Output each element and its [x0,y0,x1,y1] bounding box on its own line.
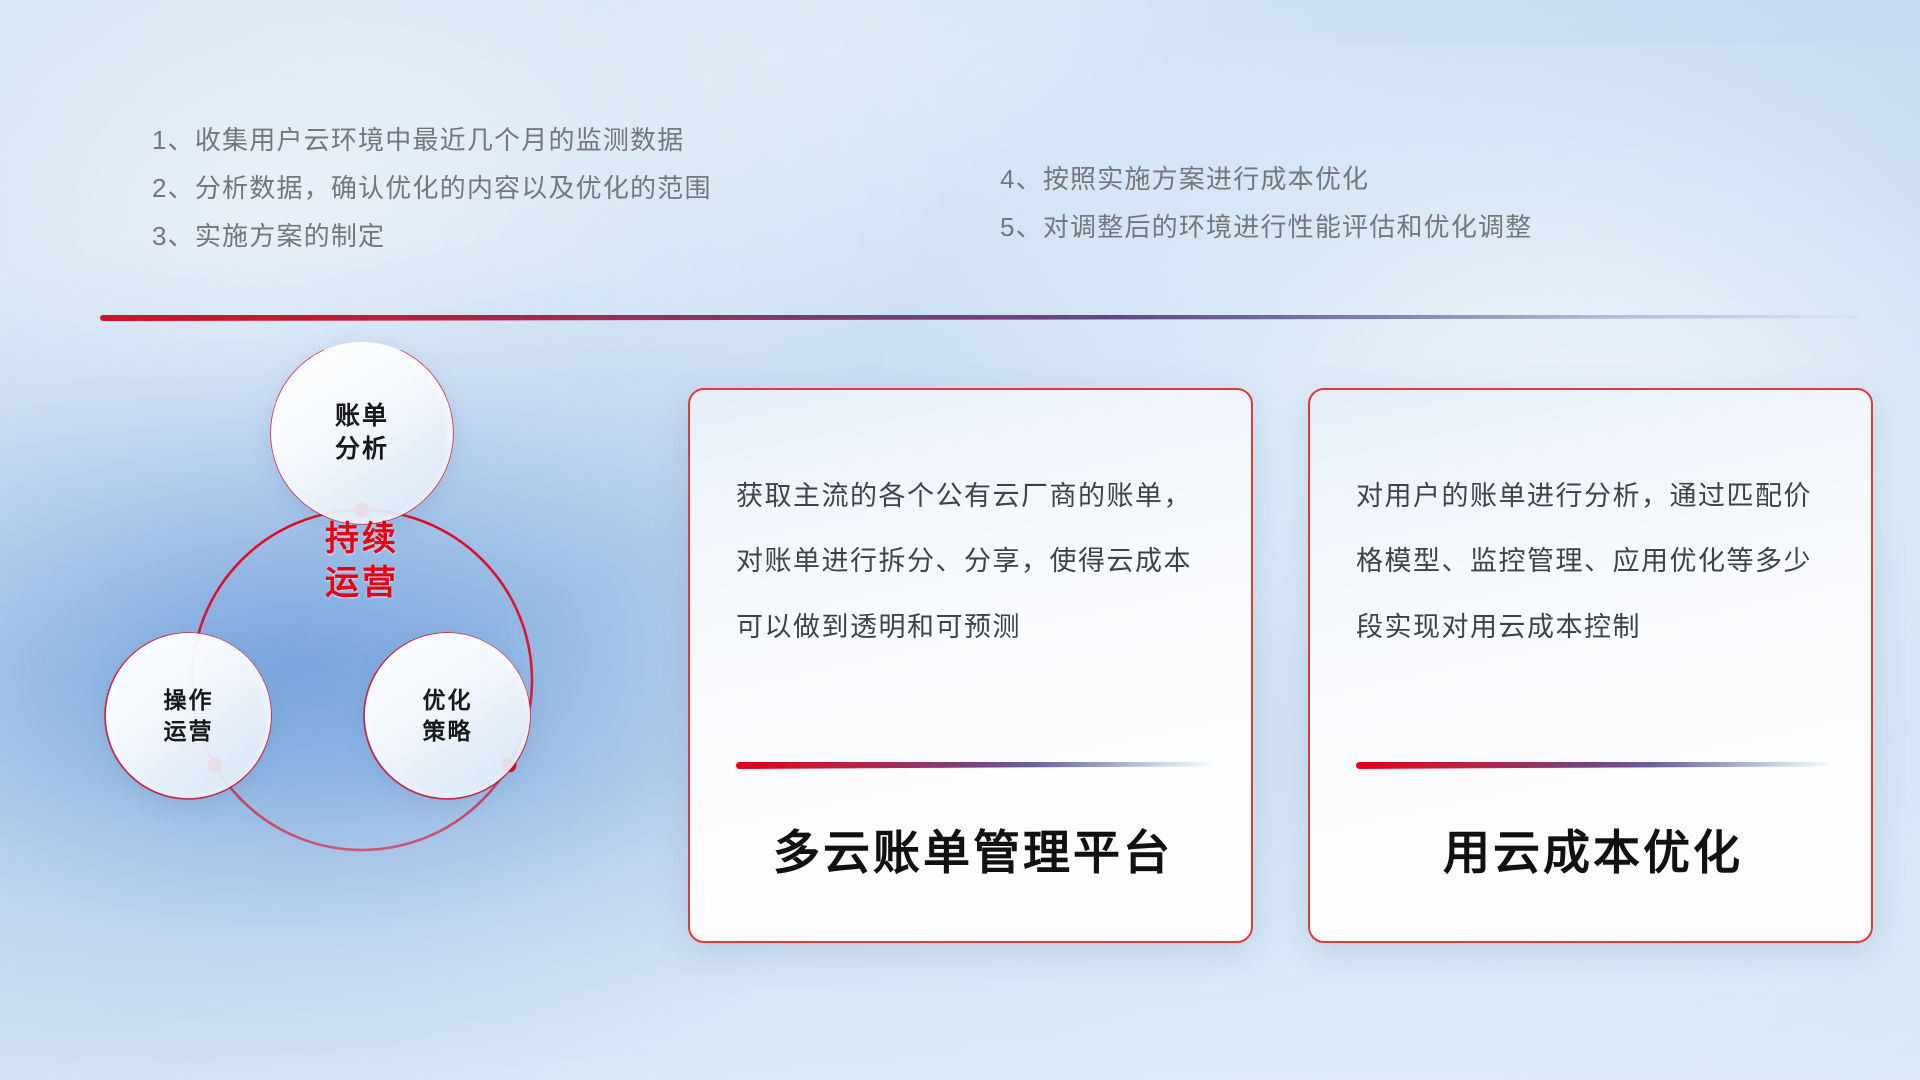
slide-canvas: 1、收集用户云环境中最近几个月的监测数据 2、分析数据，确认优化的内容以及优化的… [0,0,1920,1080]
venn-node-label-line2: 策略 [423,716,473,747]
card-accent-rule [1356,762,1830,769]
venn-node-label-line1: 操作 [164,685,214,716]
bullet-item: 3、实施方案的制定 [152,212,712,260]
continuous-operations-diagram: 账单 分析 操作 运营 优化 策略 持续 运营 [100,350,620,950]
card-title: 用云成本优化 [1356,827,1830,879]
venn-center-label-line2: 运营 [272,562,452,606]
bullet-item: 5、对调整后的环境进行性能评估和优化调整 [1000,203,1532,251]
venn-node-label-line1: 优化 [423,685,473,716]
bullet-item: 1、收集用户云环境中最近几个月的监测数据 [152,116,712,164]
card-cloud-cost-optimization[interactable]: 对用户的账单进行分析，通过匹配价格模型、监控管理、应用优化等多少段实现对用云成本… [1308,388,1873,943]
venn-node-operations[interactable]: 操作 运营 [106,633,271,798]
venn-center-label-line1: 持续 [272,518,452,562]
card-body-text: 获取主流的各个公有云厂商的账单，对账单进行拆分、分享，使得云成本可以做到透明和可… [690,390,1251,660]
bullet-list-right: 4、按照实施方案进行成本优化 5、对调整后的环境进行性能评估和优化调整 [1000,155,1532,251]
card-title: 多云账单管理平台 [736,827,1210,879]
bullet-list-left: 1、收集用户云环境中最近几个月的监测数据 2、分析数据，确认优化的内容以及优化的… [152,116,712,260]
card-accent-rule [736,762,1210,769]
venn-node-billing-analysis[interactable]: 账单 分析 [271,342,453,524]
venn-node-label-line1: 账单 [335,400,389,434]
venn-center-label: 持续 运营 [272,518,452,605]
venn-node-label-line2: 分析 [335,433,389,467]
venn-node-optimization[interactable]: 优化 策略 [365,633,530,798]
bullet-item: 2、分析数据，确认优化的内容以及优化的范围 [152,164,712,212]
bullet-item: 4、按照实施方案进行成本优化 [1000,155,1532,203]
card-body-text: 对用户的账单进行分析，通过匹配价格模型、监控管理、应用优化等多少段实现对用云成本… [1310,390,1871,660]
venn-node-label-line2: 运营 [164,716,214,747]
card-multi-cloud-billing-platform[interactable]: 获取主流的各个公有云厂商的账单，对账单进行拆分、分享，使得云成本可以做到透明和可… [688,388,1253,943]
info-cards: 获取主流的各个公有云厂商的账单，对账单进行拆分、分享，使得云成本可以做到透明和可… [688,388,1873,943]
